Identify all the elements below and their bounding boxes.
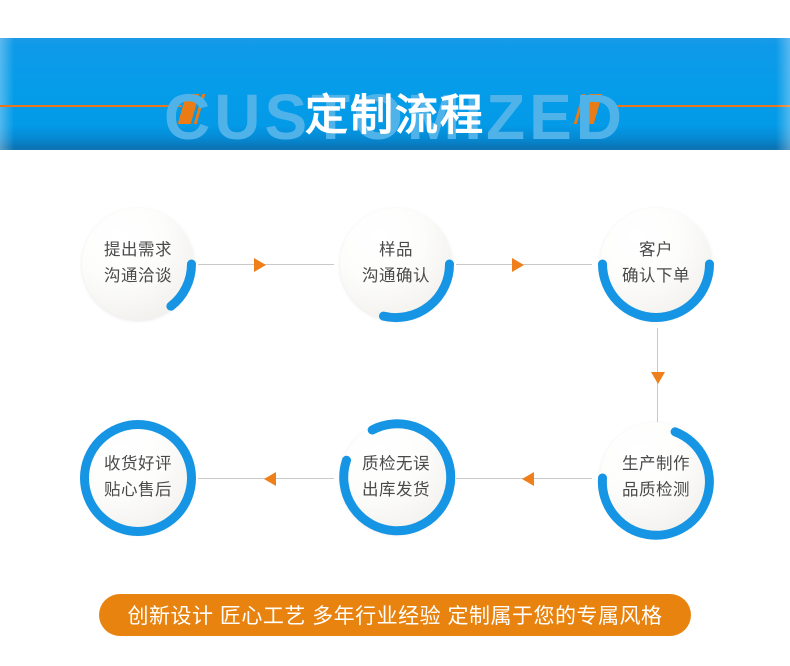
flow-step-1[interactable]: 提出需求 沟通洽谈 bbox=[74, 200, 202, 328]
step-label-line2: 品质检测 bbox=[622, 478, 690, 504]
step-label-line2: 贴心售后 bbox=[104, 478, 172, 504]
step-label-line1: 质检无误 bbox=[362, 452, 430, 478]
step-label-line1: 收货好评 bbox=[104, 452, 172, 478]
connector-arrow-step4-step5 bbox=[522, 472, 534, 486]
flow-step-2[interactable]: 样品 沟通确认 bbox=[332, 200, 460, 328]
step-label: 质检无误 出库发货 bbox=[332, 414, 460, 542]
flow-step-6[interactable]: 收货好评 贴心售后 bbox=[74, 414, 202, 542]
step-label-line1: 客户 bbox=[639, 238, 673, 264]
step-label-line2: 沟通确认 bbox=[362, 264, 430, 290]
step-label: 收货好评 贴心售后 bbox=[74, 414, 202, 542]
step-label: 客户 确认下单 bbox=[592, 200, 720, 328]
flow-step-4[interactable]: 生产制作 品质检测 bbox=[592, 414, 720, 542]
connector-line-step2-step3 bbox=[456, 264, 592, 265]
step-label-line2: 确认下单 bbox=[622, 264, 690, 290]
connector-arrow-step5-step6 bbox=[264, 472, 276, 486]
footer-slogan-banner[interactable]: 创新设计 匠心工艺 多年行业经验 定制属于您的专属风格 bbox=[99, 594, 691, 636]
footer-slogan-text: 创新设计 匠心工艺 多年行业经验 定制属于您的专属风格 bbox=[127, 600, 662, 630]
page-header-banner: CUSTOMIZED 定制流程 bbox=[0, 38, 790, 150]
connector-arrow-step3-step4 bbox=[651, 372, 665, 384]
step-label-line1: 提出需求 bbox=[104, 238, 172, 264]
step-label-line2: 沟通洽谈 bbox=[104, 264, 172, 290]
step-label-line1: 样品 bbox=[379, 238, 413, 264]
step-label-line1: 生产制作 bbox=[622, 452, 690, 478]
connector-line-step1-step2 bbox=[198, 264, 334, 265]
step-label: 样品 沟通确认 bbox=[332, 200, 460, 328]
process-flow-diagram: 提出需求 沟通洽谈 样品 沟通确认 客户 确认下单 bbox=[0, 150, 790, 580]
step-label-line2: 出库发货 bbox=[362, 478, 430, 504]
step-label: 生产制作 品质检测 bbox=[592, 414, 720, 542]
connector-arrow-step2-step3 bbox=[512, 258, 524, 272]
flow-step-3[interactable]: 客户 确认下单 bbox=[592, 200, 720, 328]
step-label: 提出需求 沟通洽谈 bbox=[74, 200, 202, 328]
connector-arrow-step1-step2 bbox=[254, 258, 266, 272]
page-title: 定制流程 bbox=[0, 90, 790, 144]
flow-step-5[interactable]: 质检无误 出库发货 bbox=[332, 414, 460, 542]
